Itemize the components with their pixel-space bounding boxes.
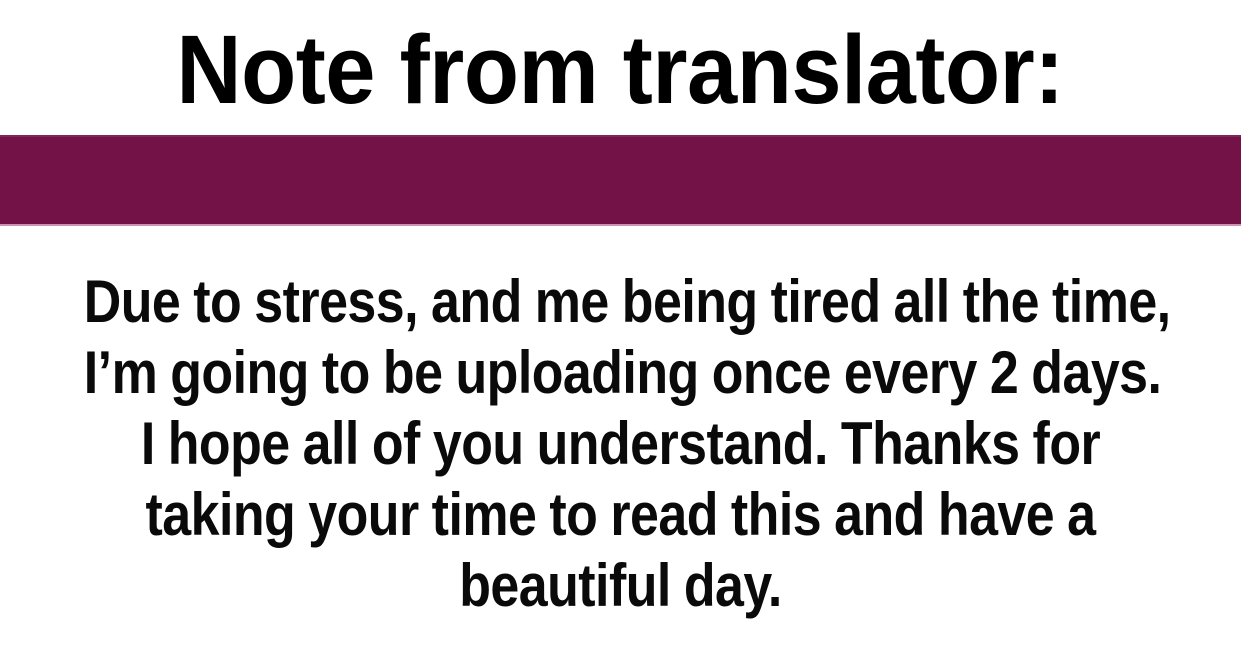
body-line: Due to stress, and me being tired all th… [84, 266, 1157, 337]
body-line: I’m going to be uploading once every 2 d… [84, 337, 1157, 408]
body-area: Due to stress, and me being tired all th… [0, 226, 1241, 655]
accent-bar-top-edge [0, 135, 1241, 137]
body-line: taking your time to read this and have a [84, 479, 1157, 550]
page-title: Note from translator: [177, 21, 1064, 118]
slide-canvas: Note from translator: Due to stress, and… [0, 0, 1241, 655]
body-paragraph: Due to stress, and me being tired all th… [0, 266, 1241, 621]
body-line: I hope all of you understand. Thanks for [84, 408, 1157, 479]
title-area: Note from translator: [0, 0, 1241, 134]
accent-divider-bar [0, 135, 1241, 226]
body-line: beautiful day. [84, 550, 1157, 621]
